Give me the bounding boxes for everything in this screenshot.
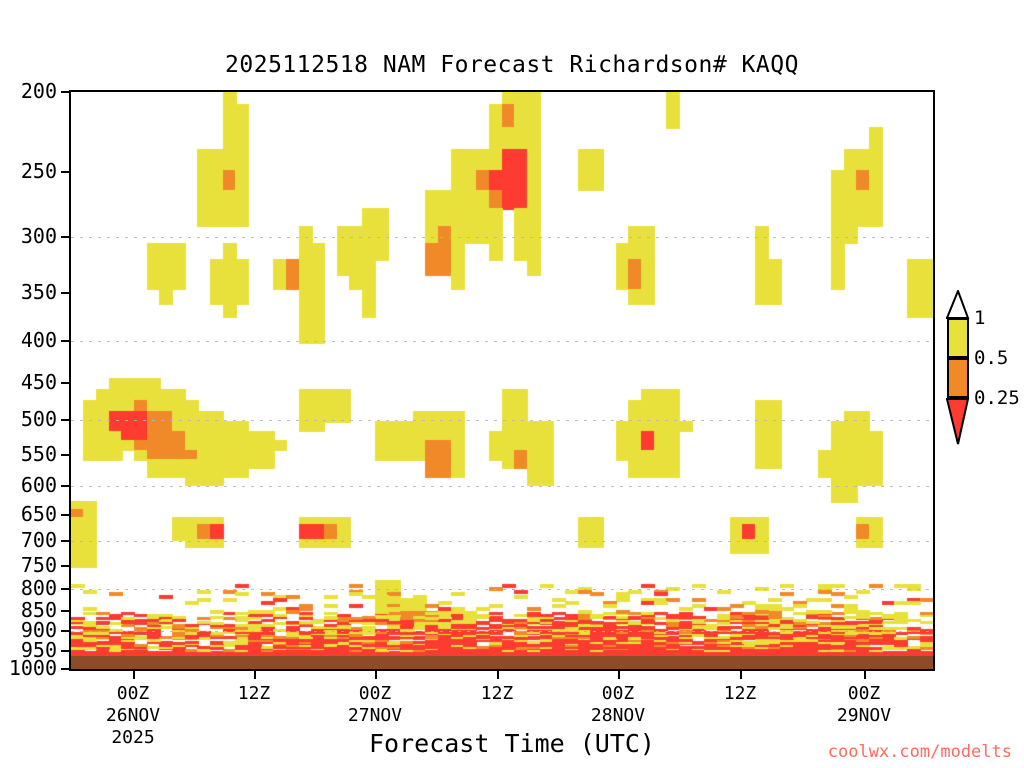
y-tick-label-400: 400 <box>21 330 57 350</box>
y-tick-mark-250 <box>61 171 69 173</box>
y-tick-mark-750 <box>61 565 69 567</box>
x-tick-mark-1 <box>254 671 256 679</box>
y-tick-mark-550 <box>61 454 69 456</box>
x-tick-mark-4 <box>618 671 620 679</box>
y-tick-mark-300 <box>61 236 69 238</box>
y-tick-label-450: 450 <box>21 372 57 392</box>
y-tick-mark-200 <box>61 91 69 93</box>
watermark: coolwx.com/modelts <box>828 742 1012 762</box>
colorbar-segment-0 <box>947 318 969 358</box>
y-tick-mark-800 <box>61 588 69 590</box>
y-tick-mark-600 <box>61 485 69 487</box>
x-tick-mark-3 <box>497 671 499 679</box>
x-tick-label-6: 00Z 29NOV <box>804 683 924 727</box>
colorbar-bottom-arrow <box>946 398 970 446</box>
y-tick-mark-650 <box>61 514 69 516</box>
y-tick-mark-350 <box>61 292 69 294</box>
y-tick-mark-850 <box>61 610 69 612</box>
colorbar-label-0-25: 0.25 <box>974 387 1020 409</box>
y-tick-mark-900 <box>61 630 69 632</box>
gridline-400 <box>71 341 933 342</box>
gridline-500 <box>71 420 933 421</box>
gridline-1000 <box>71 669 933 670</box>
chart-title: 2025112518 NAM Forecast Richardson# KAQQ <box>0 52 1024 78</box>
gridline-900 <box>71 631 933 632</box>
y-tick-label-500: 500 <box>21 409 57 429</box>
y-tick-label-200: 200 <box>21 81 57 101</box>
x-tick-mark-6 <box>864 671 866 679</box>
x-tick-label-5: 12Z <box>680 683 800 705</box>
x-tick-label-4: 00Z 28NOV <box>558 683 678 727</box>
y-tick-label-300: 300 <box>21 226 57 246</box>
gridline-700 <box>71 541 933 542</box>
y-tick-label-1000: 1000 <box>9 658 57 678</box>
y-tick-mark-400 <box>61 340 69 342</box>
colorbar-top-arrow <box>946 290 970 320</box>
y-tick-label-800: 800 <box>21 578 57 598</box>
richardson-heatmap <box>71 92 933 669</box>
y-tick-mark-1000 <box>61 668 69 670</box>
colorbar-segment-1 <box>947 358 969 398</box>
y-tick-label-250: 250 <box>21 161 57 181</box>
y-tick-label-600: 600 <box>21 475 57 495</box>
colorbar-label-1: 1 <box>974 307 985 329</box>
y-tick-label-550: 550 <box>21 444 57 464</box>
y-tick-label-750: 750 <box>21 555 57 575</box>
x-tick-mark-0 <box>133 671 135 679</box>
x-tick-label-1: 12Z <box>194 683 314 705</box>
gridline-600 <box>71 486 933 487</box>
y-tick-mark-950 <box>61 650 69 652</box>
y-tick-label-700: 700 <box>21 530 57 550</box>
y-tick-label-850: 850 <box>21 600 57 620</box>
x-tick-label-3: 12Z <box>437 683 557 705</box>
x-tick-mark-5 <box>740 671 742 679</box>
x-tick-label-2: 00Z 27NOV <box>315 683 435 727</box>
terrain-band <box>71 656 933 669</box>
y-tick-label-650: 650 <box>21 504 57 524</box>
y-tick-mark-500 <box>61 419 69 421</box>
y-tick-label-350: 350 <box>21 282 57 302</box>
gridline-800 <box>71 589 933 590</box>
gridline-300 <box>71 237 933 238</box>
plot-area <box>69 90 935 671</box>
y-tick-mark-700 <box>61 540 69 542</box>
y-tick-mark-450 <box>61 382 69 384</box>
x-tick-mark-2 <box>375 671 377 679</box>
colorbar-label-0-5: 0.5 <box>974 347 1008 369</box>
